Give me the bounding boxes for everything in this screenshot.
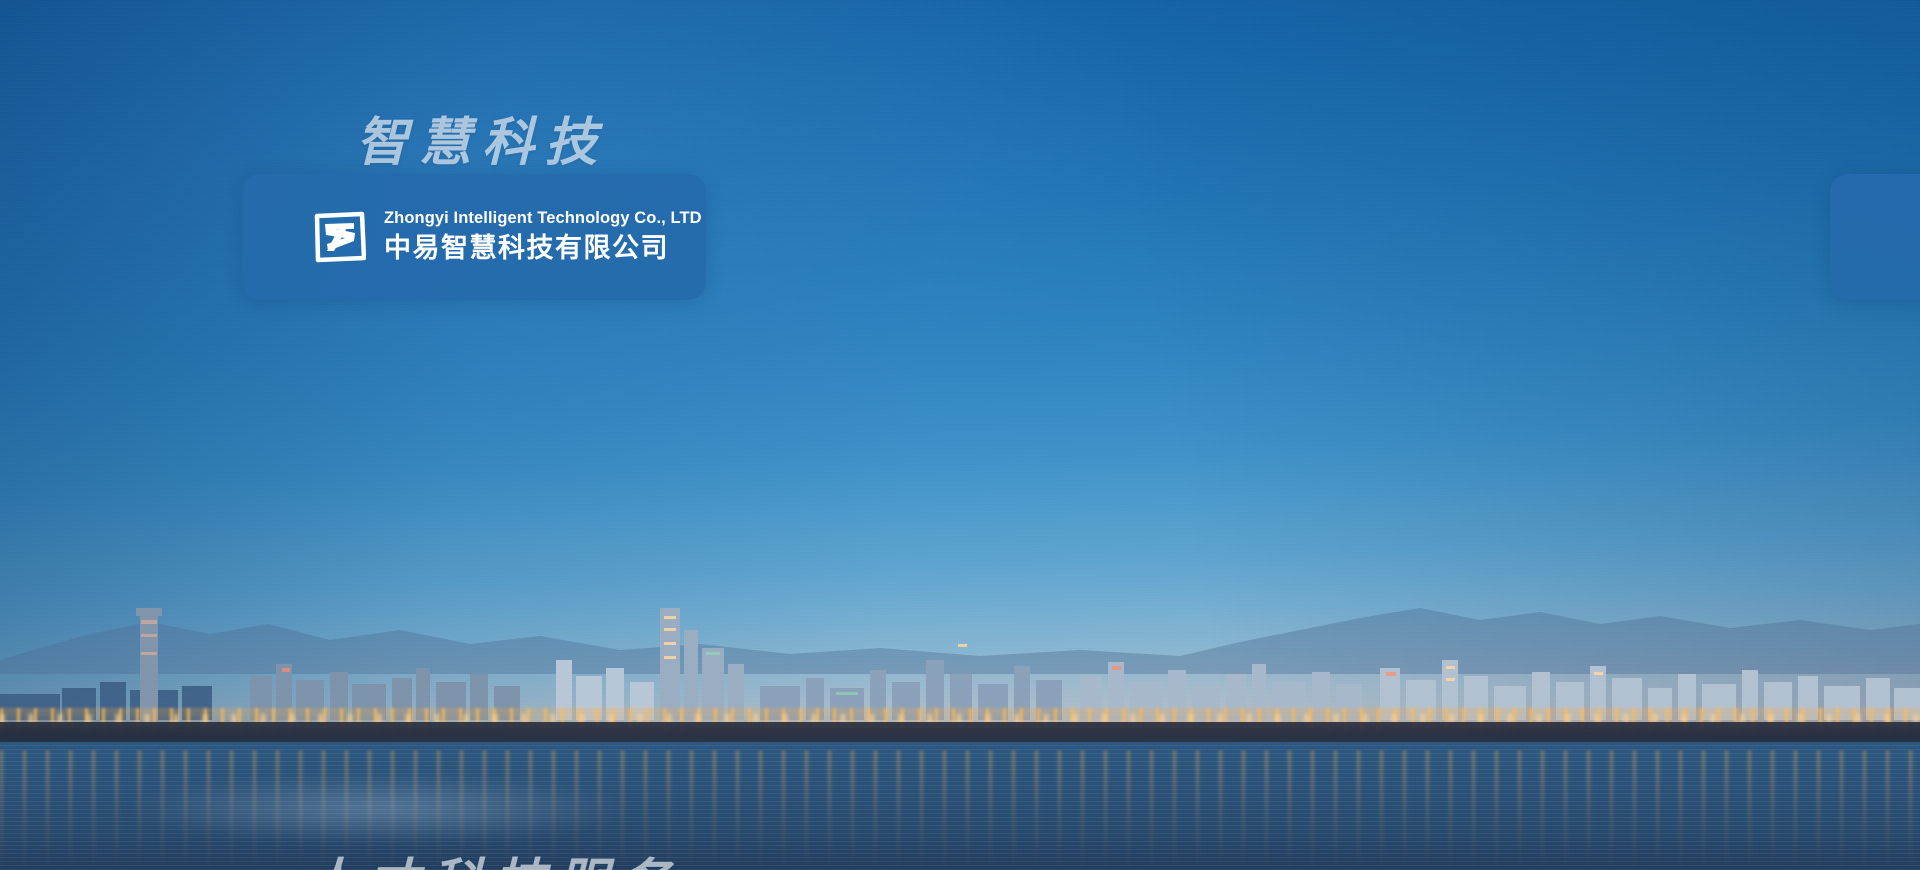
segment-heading-smart-technology: 智慧科技 [356,100,608,175]
zhongyi-z-logo-icon [314,211,366,263]
segment-heading-talent-service: 人才科技服务 [304,841,682,870]
segment-smart-technology: 智慧科技 Zhongyi Intelligent Technology Co.,… [0,0,960,435]
company-name-cn: 中易智慧科技有限公司 [384,231,702,267]
company-card-yanxiang-trading[interactable]: ® Yanxiang trading Co., LTD 砚香贸易有限公司 [1830,174,1920,300]
company-name-en: Zhongyi Intelligent Technology Co., LTD [384,207,702,229]
company-card-zhongyi[interactable]: Zhongyi Intelligent Technology Co., LTD … [242,174,706,300]
segment-talent-service: 人才科技服务 NY Any technology development Co.… [0,435,960,870]
segment-fmcg: 快消品 [960,0,1920,435]
segment-real-estate: 房地产开发 Yanxiang real estate development C… [960,435,1920,870]
segments-grid: 智慧科技 Zhongyi Intelligent Technology Co.,… [0,0,1920,870]
